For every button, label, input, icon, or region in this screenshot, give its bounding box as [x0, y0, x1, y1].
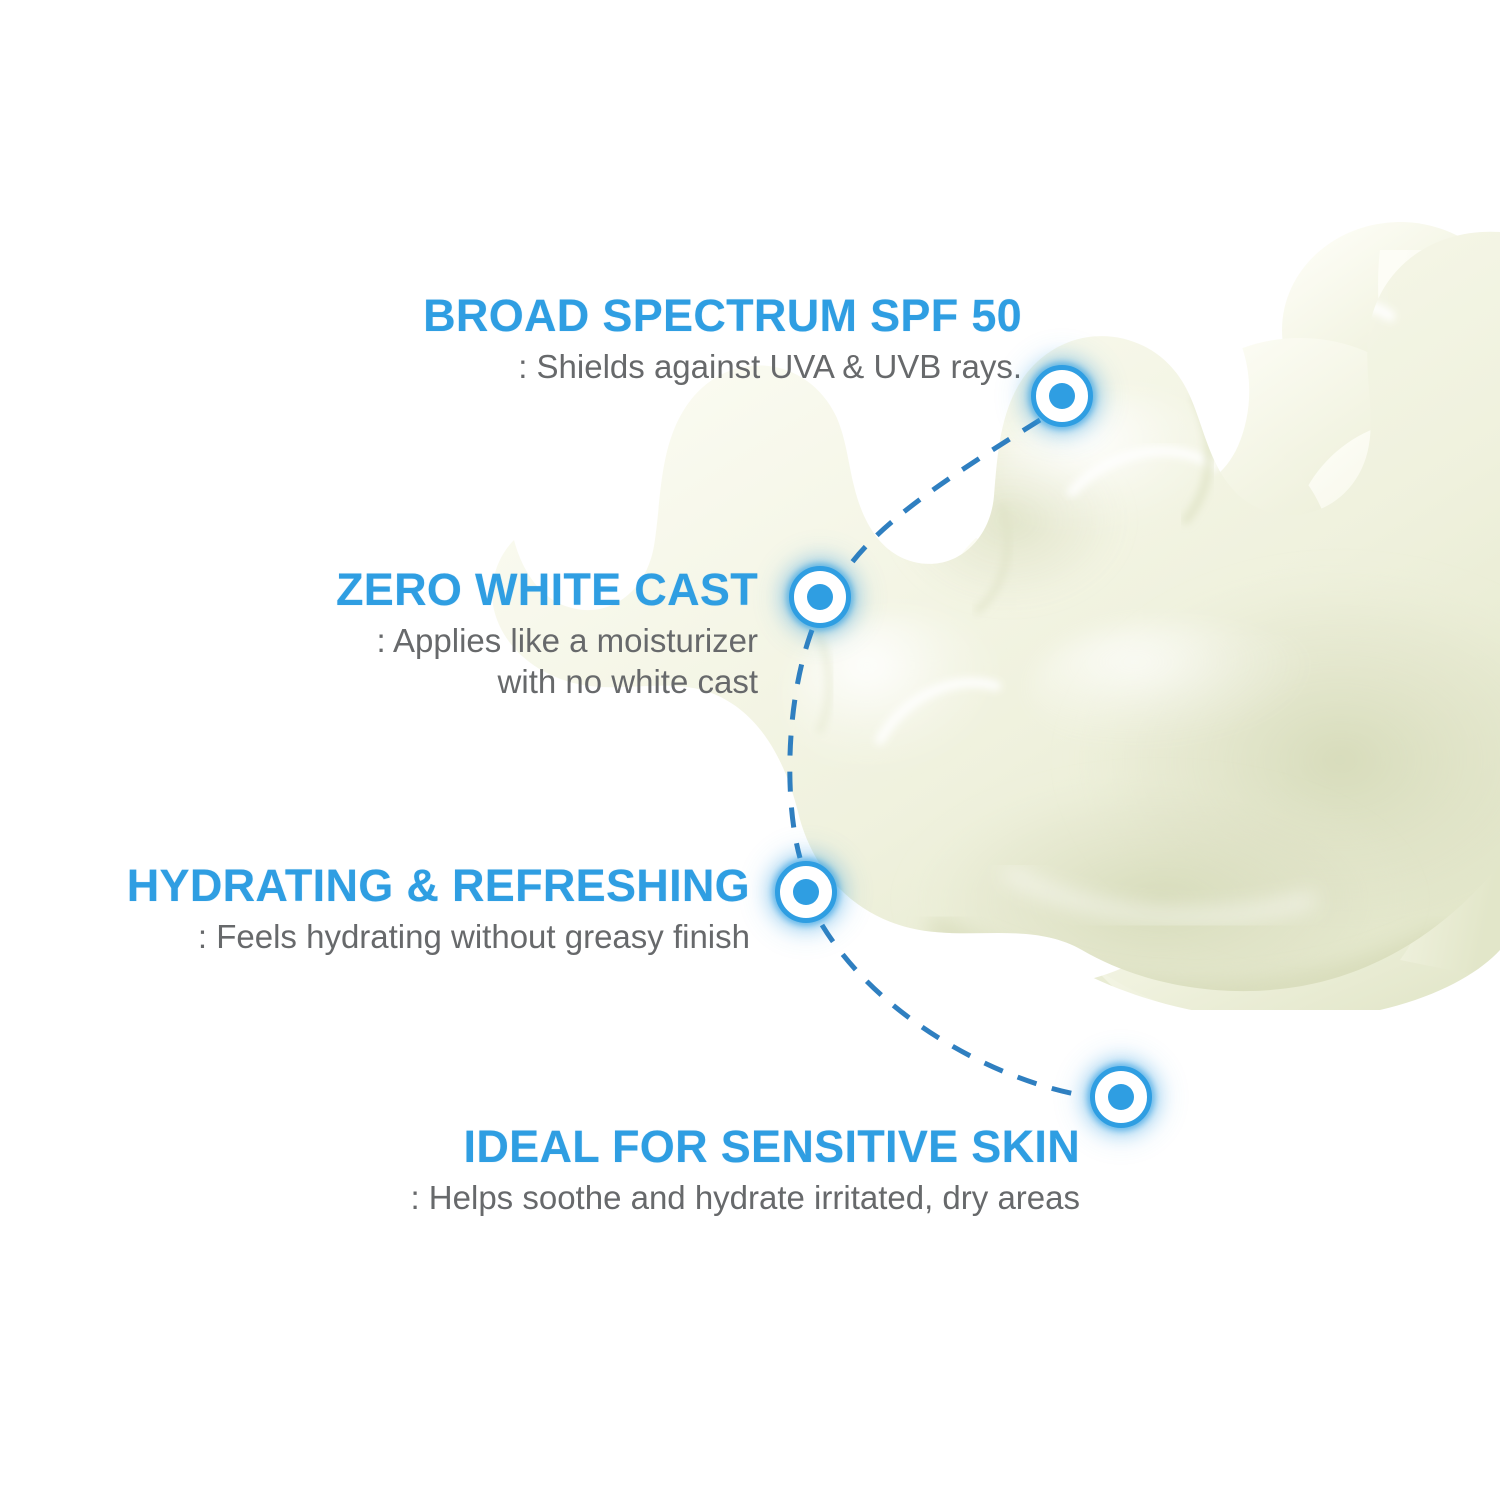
- feature-node-marker-icon: [775, 861, 837, 923]
- feature-node-marker-icon: [789, 566, 851, 628]
- feature-broad-spectrum-spf-50: BROAD SPECTRUM SPF 50 : Shields against …: [200, 293, 1022, 387]
- feature-title: ZERO WHITE CAST: [200, 567, 758, 614]
- product-feature-infographic: BROAD SPECTRUM SPF 50 : Shields against …: [0, 0, 1500, 1500]
- cream-swatch-illustration: [0, 0, 1500, 1500]
- feature-title: IDEAL FOR SENSITIVE SKIN: [240, 1124, 1080, 1171]
- connector-segment-1: [845, 420, 1040, 572]
- feature-node-marker-icon: [1090, 1066, 1152, 1128]
- feature-ideal-for-sensitive-skin: IDEAL FOR SENSITIVE SKIN : Helps soothe …: [240, 1124, 1080, 1218]
- feature-description: : Feels hydrating without greasy finish: [100, 916, 750, 958]
- cream-silhouette-cutouts: [0, 0, 1500, 1500]
- feature-zero-white-cast: ZERO WHITE CAST : Applies like a moistur…: [200, 567, 758, 703]
- feature-title: BROAD SPECTRUM SPF 50: [200, 293, 1022, 340]
- feature-node-marker-icon: [1031, 365, 1093, 427]
- connector-segment-2: [790, 630, 812, 858]
- dashed-connector-path: [0, 0, 1500, 1500]
- feature-title: HYDRATING & REFRESHING: [100, 863, 750, 910]
- feature-description-line-1: : Applies like a moisturizer: [200, 620, 758, 662]
- feature-description: : Shields against UVA & UVB rays.: [200, 346, 1022, 388]
- connector-segment-3: [822, 925, 1086, 1096]
- feature-description: : Helps soothe and hydrate irritated, dr…: [240, 1177, 1080, 1219]
- feature-description-line-2: with no white cast: [200, 661, 758, 703]
- feature-hydrating-and-refreshing: HYDRATING & REFRESHING : Feels hydrating…: [100, 863, 750, 957]
